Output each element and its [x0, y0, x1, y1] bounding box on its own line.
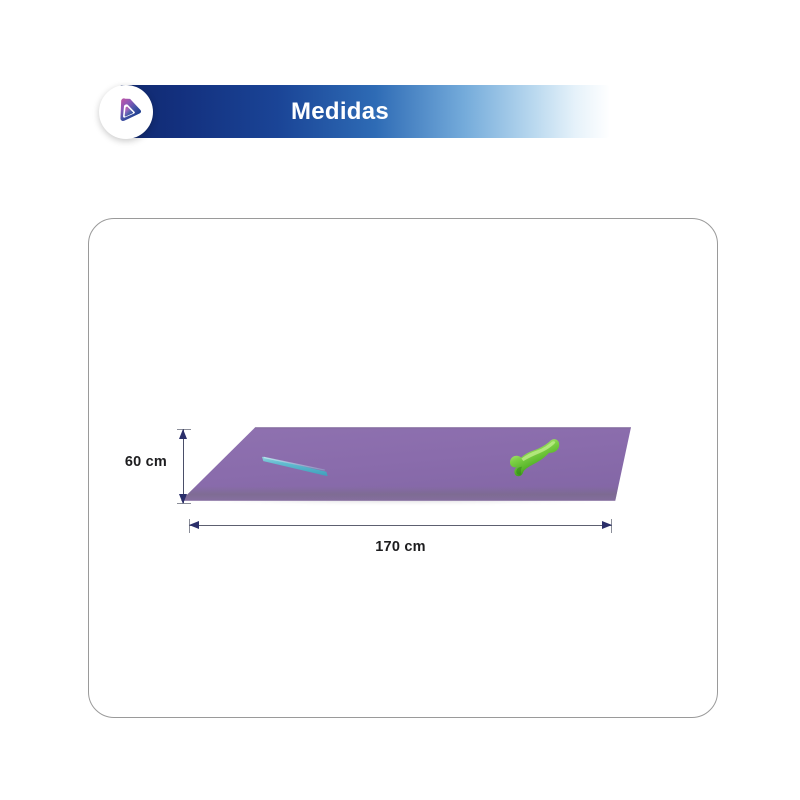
- dimension-height-label: 60 cm: [95, 454, 167, 470]
- dimension-width-arrow-left-icon: [189, 521, 199, 529]
- brand-logo-badge: [99, 85, 153, 139]
- dimension-width-label: 170 cm: [183, 539, 618, 555]
- dimension-height-arrow-up-icon: [179, 429, 187, 439]
- dimension-height-line: [183, 429, 184, 503]
- dimension-width: 170 cm: [183, 515, 618, 537]
- header-banner: Medidas: [120, 85, 610, 138]
- triangle-arrow-logo-icon: [109, 95, 143, 129]
- dimension-height-arrow-down-icon: [179, 494, 187, 504]
- dimension-height: 60 cm: [173, 424, 195, 508]
- page-title: Medidas: [291, 98, 389, 126]
- dimension-width-arrow-right-icon: [602, 521, 612, 529]
- dimension-width-line: [189, 525, 612, 526]
- product-measurements-card: 170 cm 60 cm: [88, 218, 718, 718]
- product-figure: 170 cm 60 cm: [89, 219, 719, 719]
